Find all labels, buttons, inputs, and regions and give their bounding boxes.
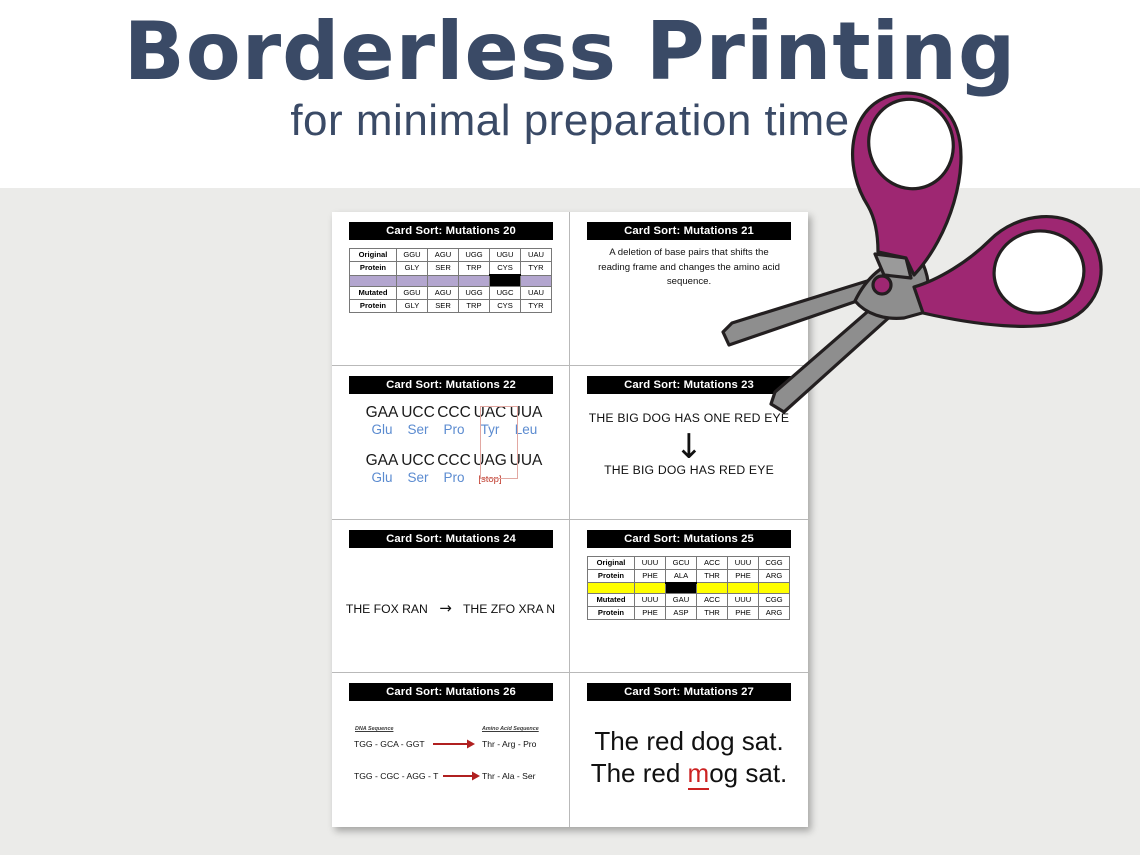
codon-cell: GCU xyxy=(666,556,697,569)
codon-highlighted: UAG xyxy=(472,452,508,470)
codon: UCC xyxy=(400,404,436,422)
amino-cell-mutated: CYS xyxy=(490,262,521,276)
card-title: Card Sort: Mutations 23 xyxy=(587,376,791,394)
codon-table-20: Original GGU AGU UGG UGU UAU Protein GLY… xyxy=(349,248,552,313)
card-title: Card Sort: Mutations 21 xyxy=(587,222,791,240)
amino-line-mutated: Glu Ser Pro [stop] xyxy=(364,470,544,488)
codon-line-original: GAA UCC CCC UAC UUA xyxy=(364,404,544,422)
codon-table-25: Original UUU GCU ACC UUU CGG Protein PHE… xyxy=(587,556,790,621)
right-arrow-icon xyxy=(443,771,480,780)
amino-acid: Ser xyxy=(400,422,436,437)
amino-cell: TRP xyxy=(459,299,490,312)
codon: GAA xyxy=(364,452,400,470)
table-row: Protein PHE ALA THR PHE ARG xyxy=(588,569,790,583)
card-title: Card Sort: Mutations 26 xyxy=(349,683,553,701)
card-mutations-22[interactable]: Card Sort: Mutations 22 GAA UCC CCC UAC … xyxy=(332,366,570,520)
card-mutations-25[interactable]: Card Sort: Mutations 25 Original UUU GCU… xyxy=(570,520,808,674)
dna-sequence-label: DNA Sequence xyxy=(355,726,393,732)
amino-cell: TRP xyxy=(459,262,490,276)
card-body: THE BIG DOG HAS ONE RED EYE ↓ THE BIG DO… xyxy=(576,398,802,515)
mutation-marker-cell xyxy=(666,583,697,594)
table-row: Mutated GGU AGU UGG UGC UAU xyxy=(350,286,552,299)
highlight-cell xyxy=(350,275,397,286)
highlight-cell xyxy=(759,583,790,594)
codon-cell: GAU xyxy=(666,594,697,607)
dna-protein-diagram: DNA Sequence Amino Acid Sequence TGG - G… xyxy=(338,705,563,823)
row-label: Protein xyxy=(350,262,397,276)
right-arrow-icon: → xyxy=(431,599,460,617)
amino-cell: THR xyxy=(697,569,728,583)
row-label: Mutated xyxy=(350,286,397,299)
amino-cell: PHE xyxy=(635,607,666,620)
right-arrow-icon xyxy=(433,739,475,748)
amino-line-original: Glu Ser Pro Tyr Leu xyxy=(364,422,544,440)
card-title: Card Sort: Mutations 20 xyxy=(349,222,553,240)
table-row: Original GGU AGU UGG UGU UAU xyxy=(350,249,552,262)
codon-cell: UUU xyxy=(635,594,666,607)
card-body: GAA UCC CCC UAC UUA Glu Ser Pro Tyr Leu xyxy=(338,398,563,515)
row-label: Original xyxy=(588,556,635,569)
protein-sequence-row2: Thr - Ala - Ser xyxy=(482,771,535,781)
amino-cell: THR xyxy=(697,607,728,620)
codon: CCC xyxy=(436,452,472,470)
highlight-cell xyxy=(728,583,759,594)
table-row: Original UUU GCU ACC UUU CGG xyxy=(588,556,790,569)
codon-cell: UGU xyxy=(490,249,521,262)
hero-banner: Borderless Printing for minimal preparat… xyxy=(0,0,1140,188)
row-label: Protein xyxy=(588,607,635,620)
codon-cell: UAU xyxy=(521,286,552,299)
down-arrow-icon: ↓ xyxy=(576,430,802,464)
table-row: Protein GLY SER TRP CYS TYR xyxy=(350,299,552,312)
amino-cell: SER xyxy=(428,299,459,312)
codon-cell: AGU xyxy=(428,286,459,299)
amino-acid: Glu xyxy=(364,470,400,485)
sentence-after: THE BIG DOG HAS RED EYE xyxy=(576,463,802,477)
sentence-original: The red dog sat. xyxy=(576,726,802,757)
card-body: Original GGU AGU UGG UGU UAU Protein GLY… xyxy=(338,244,563,361)
amino-cell: ASP xyxy=(666,607,697,620)
protein-sequence-row1: Thr - Arg - Pro xyxy=(482,739,536,749)
amino-acid: Leu xyxy=(508,422,544,437)
amino-cell: CYS xyxy=(490,299,521,312)
card-title: Card Sort: Mutations 24 xyxy=(349,530,553,548)
codon-stack-22: GAA UCC CCC UAC UUA Glu Ser Pro Tyr Leu xyxy=(364,404,544,488)
dna-sequence-row1: TGG - GCA - GGT xyxy=(354,739,425,749)
amino-cell: ARG xyxy=(759,607,790,620)
card-body: THE FOX RAN → THE ZFO XRA N xyxy=(338,552,563,669)
amino-cell: PHE xyxy=(635,569,666,583)
card-grid: Card Sort: Mutations 20 Original GGU AGU… xyxy=(332,212,808,827)
page-subtitle: for minimal preparation time xyxy=(0,96,1140,146)
card-title: Card Sort: Mutations 25 xyxy=(587,530,791,548)
sentence-suffix: og sat. xyxy=(709,758,787,788)
amino-acid-highlighted: Tyr xyxy=(472,422,508,437)
sentence-pair: THE FOX RAN → THE ZFO XRA N xyxy=(338,599,563,617)
amino-acid-sequence-label: Amino Acid Sequence xyxy=(482,726,539,732)
page-title: Borderless Printing xyxy=(0,4,1140,99)
row-label: Protein xyxy=(588,569,635,583)
card-mutations-21[interactable]: Card Sort: Mutations 21 A deletion of ba… xyxy=(570,212,808,366)
printable-sheet: Card Sort: Mutations 20 Original GGU AGU… xyxy=(332,212,808,827)
amino-acid: Ser xyxy=(400,470,436,485)
highlight-cell xyxy=(459,275,490,286)
codon-cell: ACC xyxy=(697,556,728,569)
codon-cell: UGG xyxy=(459,249,490,262)
card-body: Original UUU GCU ACC UUU CGG Protein PHE… xyxy=(576,552,802,669)
amino-acid: Glu xyxy=(364,422,400,437)
codon-cell: UGG xyxy=(459,286,490,299)
amino-cell: GLY xyxy=(397,262,428,276)
highlight-cell xyxy=(588,583,635,594)
codon: CCC xyxy=(436,404,472,422)
sentence-before: THE FOX RAN xyxy=(346,602,428,616)
codon-cell: UAU xyxy=(521,249,552,262)
codon-cell: GGU xyxy=(397,286,428,299)
amino-acid: Pro xyxy=(436,470,472,485)
mutation-marker-cell xyxy=(490,275,521,286)
codon-cell: ACC xyxy=(697,594,728,607)
codon-cell: GGU xyxy=(397,249,428,262)
table-row: Mutated UUU GAU ACC UUU CGG xyxy=(588,594,790,607)
highlight-cell xyxy=(397,275,428,286)
codon-cell: UUU xyxy=(635,556,666,569)
highlight-row xyxy=(350,275,552,286)
amino-cell-mutated: ALA xyxy=(666,569,697,583)
sentence-prefix: The red xyxy=(591,758,688,788)
row-label: Mutated xyxy=(588,594,635,607)
codon: UCC xyxy=(400,452,436,470)
codon-cell: UUU xyxy=(728,594,759,607)
card-mutations-23[interactable]: Card Sort: Mutations 23 THE BIG DOG HAS … xyxy=(570,366,808,520)
highlight-cell xyxy=(428,275,459,286)
codon: GAA xyxy=(364,404,400,422)
codon: UUA xyxy=(508,404,544,422)
card-body: The red dog sat. The red mog sat. xyxy=(576,705,802,823)
mutated-letter: m xyxy=(688,758,710,790)
row-label: Protein xyxy=(350,299,397,312)
card-title: Card Sort: Mutations 22 xyxy=(349,376,553,394)
amino-cell: PHE xyxy=(728,607,759,620)
codon-cell: AGU xyxy=(428,249,459,262)
amino-cell: PHE xyxy=(728,569,759,583)
highlight-cell xyxy=(635,583,666,594)
card-body: DNA Sequence Amino Acid Sequence TGG - G… xyxy=(338,705,563,823)
codon: UUA xyxy=(508,452,544,470)
amino-cell: ARG xyxy=(759,569,790,583)
amino-cell: SER xyxy=(428,262,459,276)
highlight-row xyxy=(588,583,790,594)
table-row: Protein GLY SER TRP CYS TYR xyxy=(350,262,552,276)
amino-acid: Pro xyxy=(436,422,472,437)
amino-cell: GLY xyxy=(397,299,428,312)
card-description: A deletion of base pairs that shifts the… xyxy=(592,246,786,290)
row-label: Original xyxy=(350,249,397,262)
card-mutations-20[interactable]: Card Sort: Mutations 20 Original GGU AGU… xyxy=(332,212,570,366)
codon-cell: CGG xyxy=(759,594,790,607)
codon-highlighted: UAC xyxy=(472,404,508,422)
codon-cell: UUU xyxy=(728,556,759,569)
codon-cell: UGC xyxy=(490,286,521,299)
amino-cell: TYR xyxy=(521,262,552,276)
highlight-cell xyxy=(697,583,728,594)
codon-cell: CGG xyxy=(759,556,790,569)
sentence-before: THE BIG DOG HAS ONE RED EYE xyxy=(576,411,802,425)
highlight-cell xyxy=(521,275,552,286)
codon-line-mutated: GAA UCC CCC UAG UUA xyxy=(364,452,544,470)
stop-codon-label: [stop] xyxy=(472,474,508,485)
card-mutations-27[interactable]: Card Sort: Mutations 27 The red dog sat.… xyxy=(570,673,808,827)
sentence-mutated: The red mog sat. xyxy=(576,758,802,789)
table-row: Protein PHE ASP THR PHE ARG xyxy=(588,607,790,620)
sentence-after: THE ZFO XRA N xyxy=(463,602,555,616)
card-title: Card Sort: Mutations 27 xyxy=(587,683,791,701)
card-mutations-24[interactable]: Card Sort: Mutations 24 THE FOX RAN → TH… xyxy=(332,520,570,674)
amino-cell: TYR xyxy=(521,299,552,312)
card-mutations-26[interactable]: Card Sort: Mutations 26 DNA Sequence Ami… xyxy=(332,673,570,827)
dna-sequence-row2: TGG - CGC - AGG - T xyxy=(354,771,438,781)
